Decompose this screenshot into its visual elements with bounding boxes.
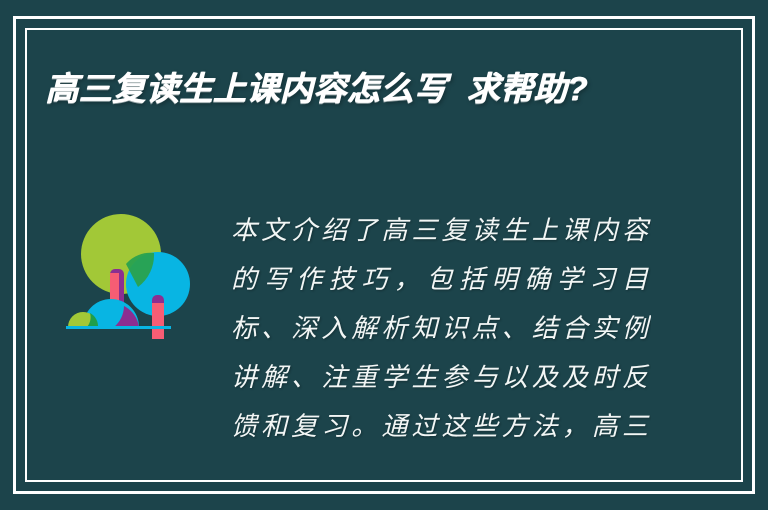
page-title: 高三复读生上课内容怎么写 求帮助? bbox=[45, 62, 685, 116]
article-summary-text: 本文介绍了高三复读生上课内容的写作技巧，包括明确学习目标、深入解析知识点、结合实… bbox=[231, 206, 651, 456]
article-cover-card: 高三复读生上课内容怎么写 求帮助? bbox=[0, 0, 768, 510]
trees-illustration bbox=[66, 207, 198, 359]
small-tree-trunk-icon bbox=[152, 303, 164, 339]
ground-line bbox=[66, 326, 171, 329]
trees-illustration-svg bbox=[66, 207, 198, 359]
